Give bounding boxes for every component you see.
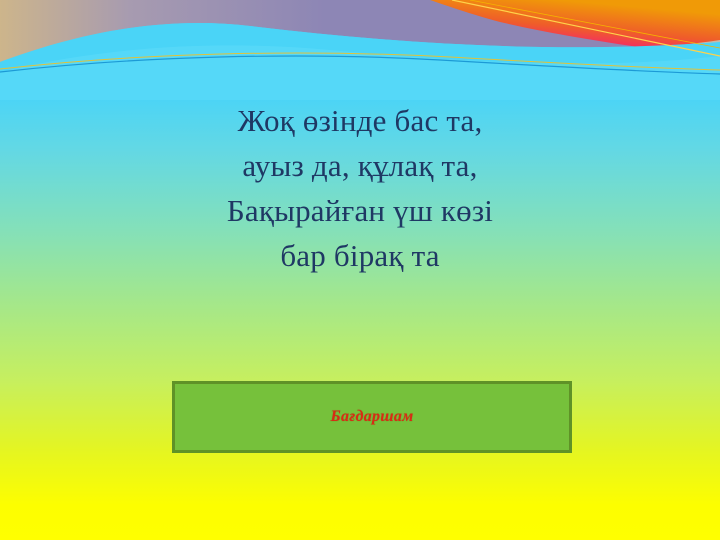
slide-canvas: Жоқ өзінде бас та, ауыз да, құлақ та, Ба… [0, 0, 720, 540]
riddle-line-2: ауыз да, құлақ та, [0, 143, 720, 188]
decorative-wave-banner [0, 0, 720, 100]
answer-label: Бағдаршам [331, 408, 414, 426]
riddle-line-1: Жоқ өзінде бас та, [0, 98, 720, 143]
riddle-line-3: Бақырайған үш көзі [0, 188, 720, 233]
answer-box[interactable]: Бағдаршам [172, 381, 572, 453]
riddle-line-4: бар бірақ та [0, 233, 720, 278]
wave-banner-svg [0, 0, 720, 100]
riddle-text: Жоқ өзінде бас та, ауыз да, құлақ та, Ба… [0, 98, 720, 278]
